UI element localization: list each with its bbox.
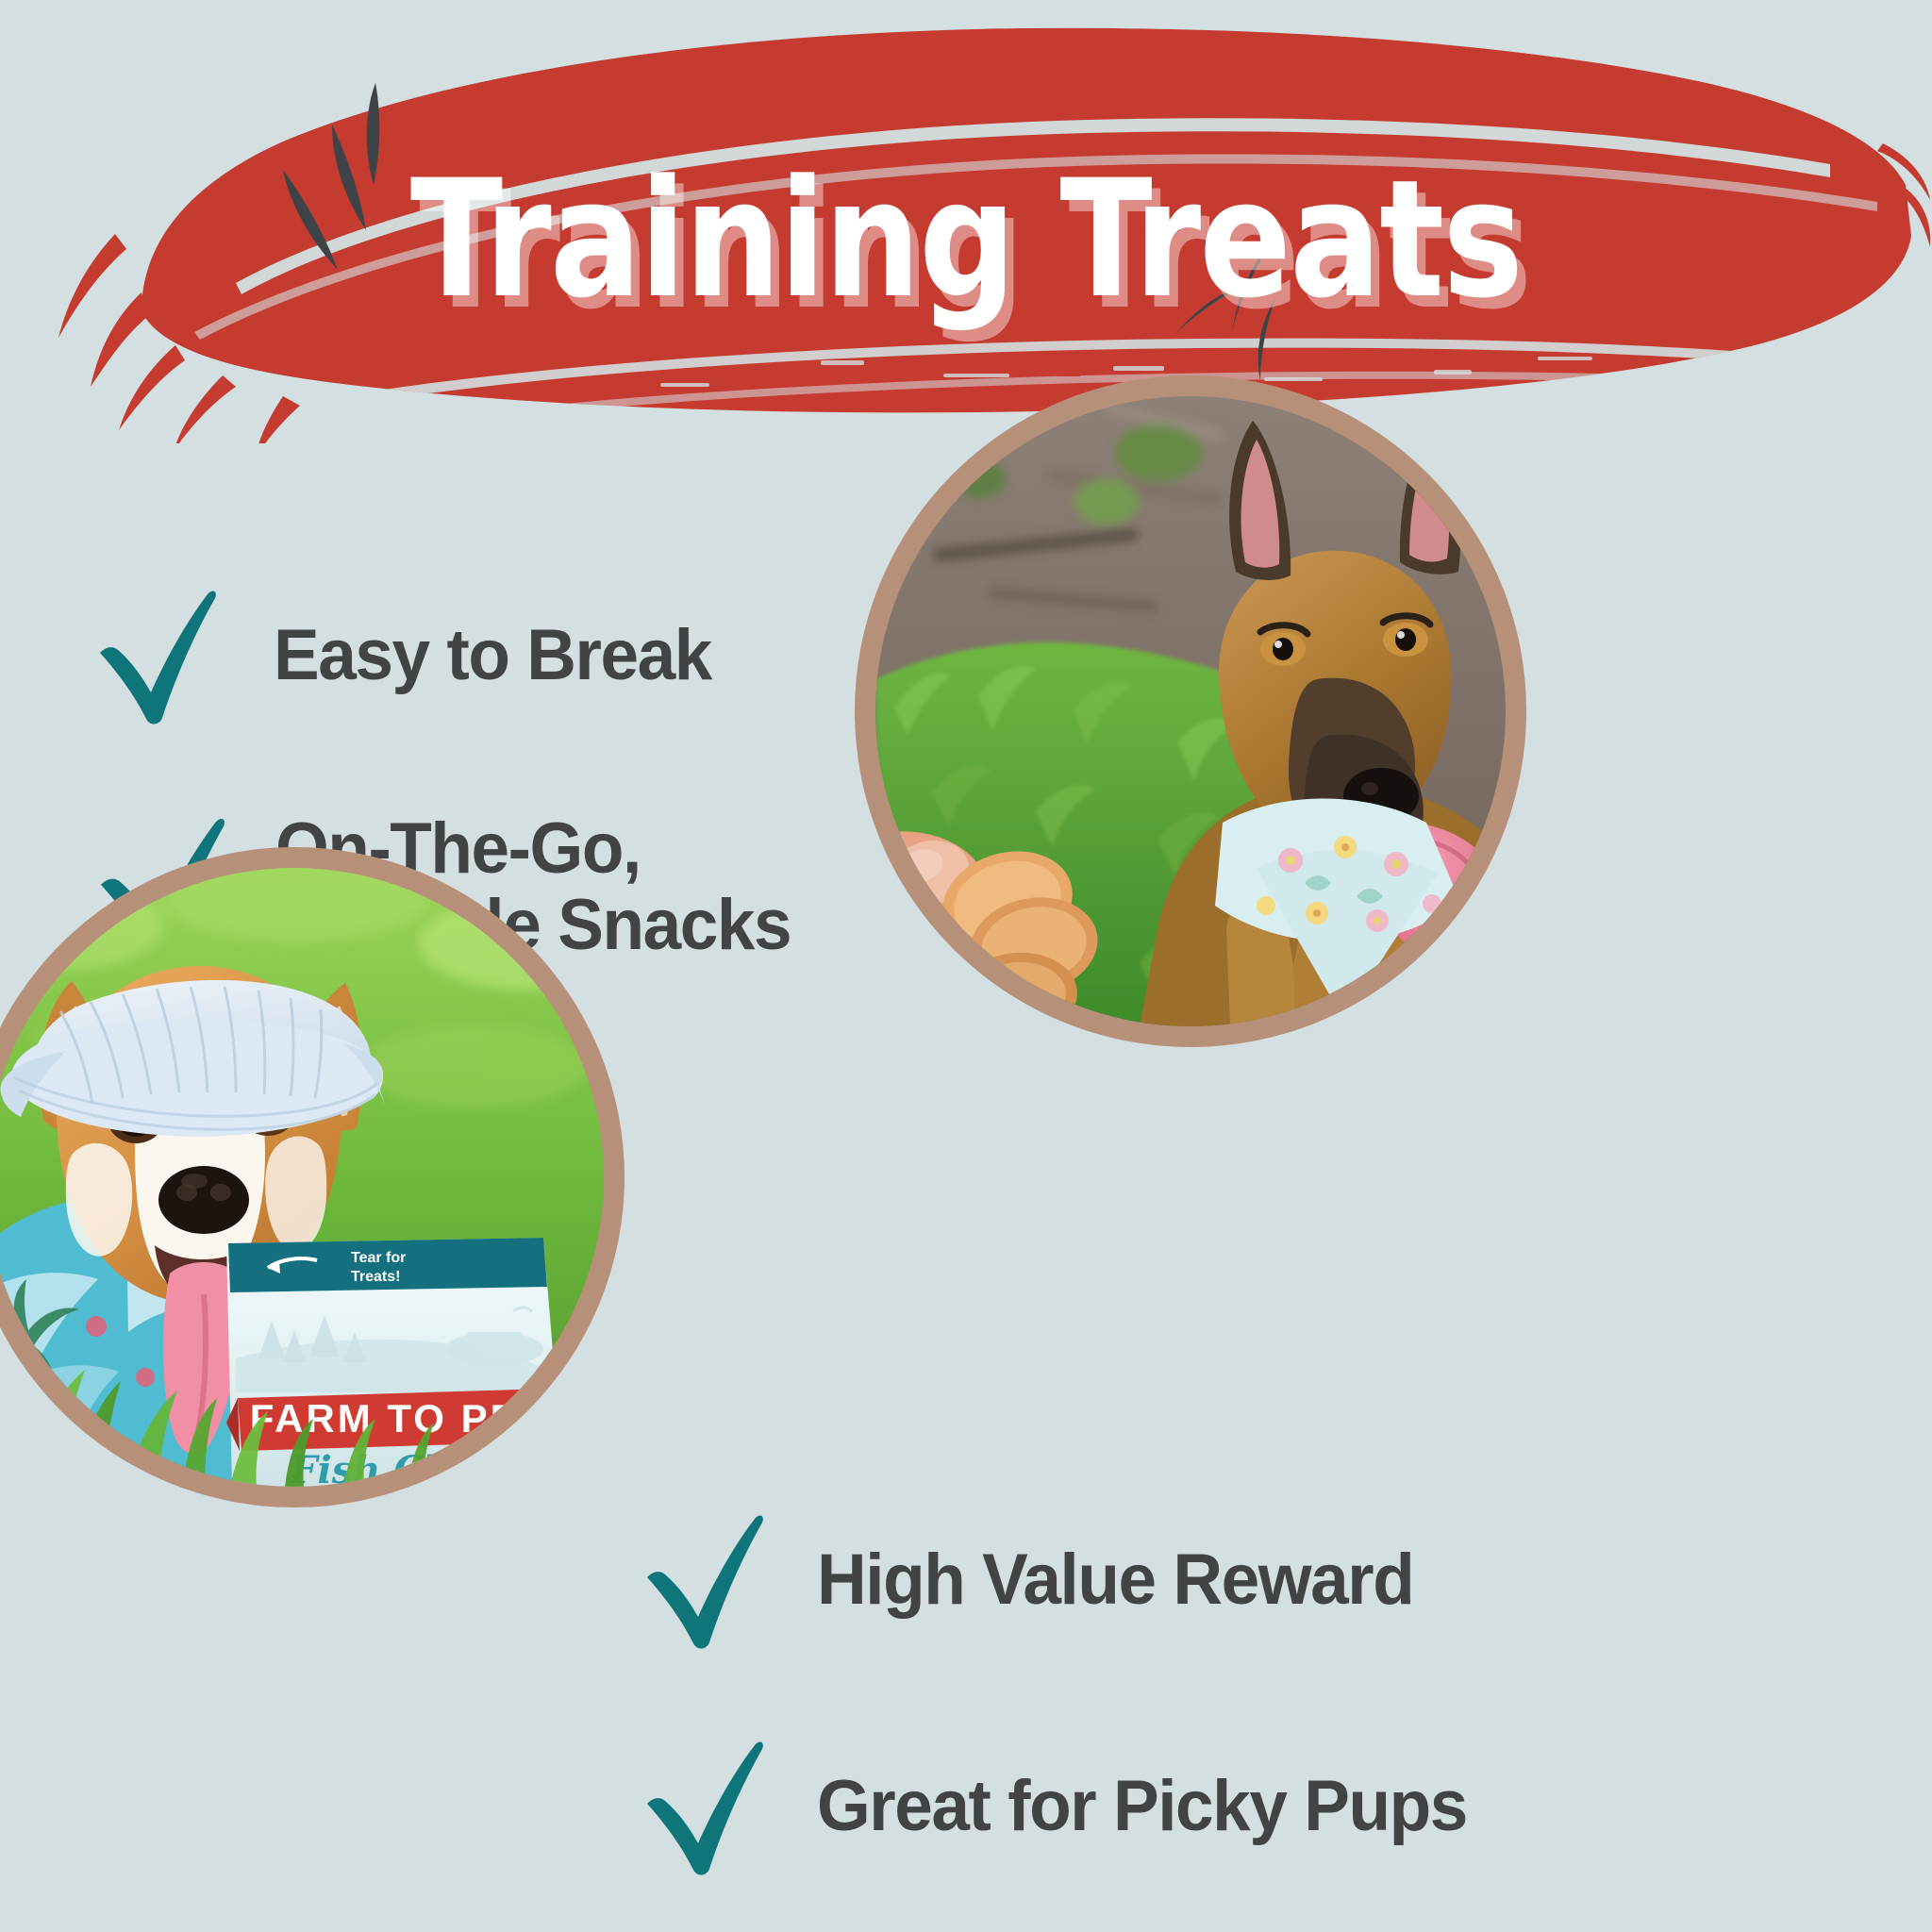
malinois-photo-art xyxy=(875,396,1506,1026)
page-title: Training Treats xyxy=(68,158,1865,321)
photo-dog-corgi: Tear for Treats! xyxy=(0,847,625,1507)
poster-canvas: Training Treats Easy to Break On-The-Go,… xyxy=(0,0,1932,1932)
photo-dog-malinois xyxy=(855,375,1526,1047)
bullet-label: Great for Picky Pups xyxy=(817,1769,1467,1845)
bullet-high-value-reward: High Value Reward xyxy=(634,1509,1439,1651)
check-icon xyxy=(634,1736,775,1877)
bag-tear-label-line1: Tear for xyxy=(351,1250,406,1266)
corgi-photo-art: Tear for Treats! xyxy=(0,868,604,1487)
bag-tear-label-line2: Treats! xyxy=(351,1269,400,1285)
bullet-easy-to-break: Easy to Break xyxy=(87,585,729,726)
product-bag: Tear for Treats! xyxy=(226,1238,564,1487)
bullet-label: High Value Reward xyxy=(817,1542,1413,1619)
bullet-label: Easy to Break xyxy=(274,618,711,694)
check-icon xyxy=(87,585,228,726)
title-banner: Training Treats xyxy=(0,0,1932,443)
bullet-picky-pups: Great for Picky Pups xyxy=(634,1736,1494,1877)
check-icon xyxy=(634,1509,775,1651)
